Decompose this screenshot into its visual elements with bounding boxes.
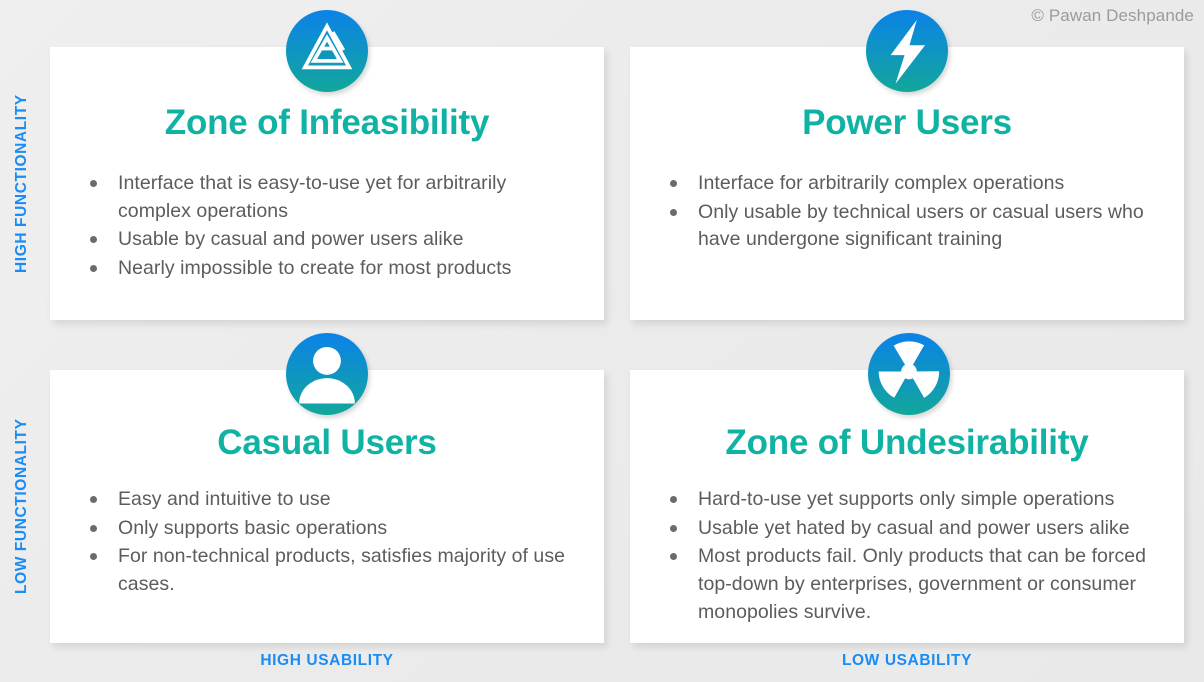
axis-label-low-usability: LOW USABILITY — [630, 648, 1184, 674]
list-item: Interface that is easy-to-use yet for ar… — [68, 170, 578, 225]
radiation-icon — [868, 333, 950, 415]
quadrant-bullet-list: Interface that is easy-to-use yet for ar… — [50, 170, 604, 283]
penrose-triangle-icon — [286, 10, 368, 92]
list-item: Most products fail. Only products that c… — [648, 543, 1158, 626]
axis-label-high-functionality: HIGH FUNCTIONALITY — [0, 47, 44, 320]
person-icon — [286, 333, 368, 415]
list-item: Easy and intuitive to use — [68, 486, 578, 514]
quadrant-bullet-list: Interface for arbitrarily complex operat… — [630, 170, 1184, 254]
list-item: Usable by casual and power users alike — [68, 226, 578, 254]
quadrant-bullet-list: Easy and intuitive to use Only supports … — [50, 486, 604, 599]
axis-label-high-usability: HIGH USABILITY — [50, 648, 604, 674]
copyright-notice: © Pawan Deshpande — [1031, 6, 1194, 26]
list-item: Only usable by technical users or casual… — [648, 199, 1158, 254]
list-item: Interface for arbitrarily complex operat… — [648, 170, 1158, 198]
list-item: Hard-to-use yet supports only simple ope… — [648, 486, 1158, 514]
quadrant-bullet-list: Hard-to-use yet supports only simple ope… — [630, 486, 1184, 626]
list-item: For non-technical products, satisfies ma… — [68, 543, 578, 598]
list-item: Nearly impossible to create for most pro… — [68, 255, 578, 283]
list-item: Usable yet hated by casual and power use… — [648, 515, 1158, 543]
lightning-bolt-icon — [866, 10, 948, 92]
list-item: Only supports basic operations — [68, 515, 578, 543]
axis-label-low-functionality: LOW FUNCTIONALITY — [0, 370, 44, 643]
